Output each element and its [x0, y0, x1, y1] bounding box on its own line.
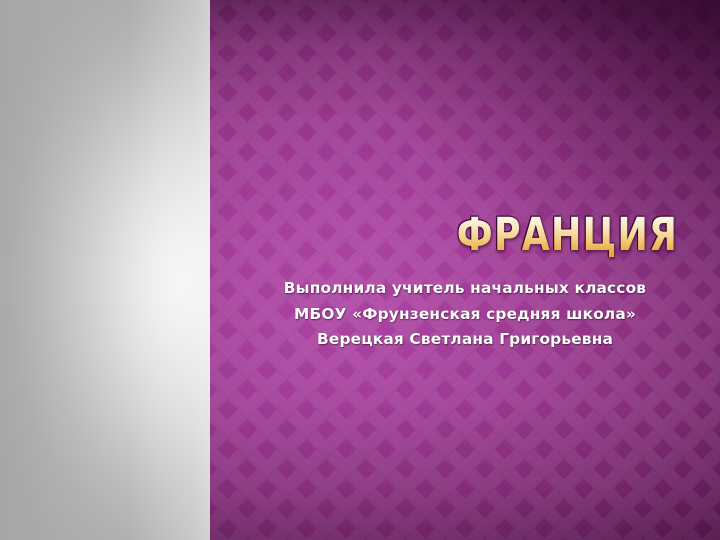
title-slide: ФРАНЦИЯ Выполнила учитель начальных клас… — [0, 0, 720, 540]
left-panel-sheen — [0, 0, 210, 540]
subtitle-block: Выполнила учитель начальных классов МБОУ… — [210, 276, 720, 353]
subtitle-line-1: Выполнила учитель начальных классов — [210, 276, 720, 302]
subtitle-line-3: Верецкая Светлана Григорьевна — [210, 327, 720, 353]
page-title: ФРАНЦИЯ — [457, 212, 678, 258]
left-gray-panel — [0, 0, 210, 540]
slide-content: ФРАНЦИЯ Выполнила учитель начальных клас… — [210, 0, 720, 540]
subtitle-line-2: МБОУ «Фрунзенская средняя школа» — [210, 302, 720, 328]
title-row: ФРАНЦИЯ — [210, 212, 678, 258]
